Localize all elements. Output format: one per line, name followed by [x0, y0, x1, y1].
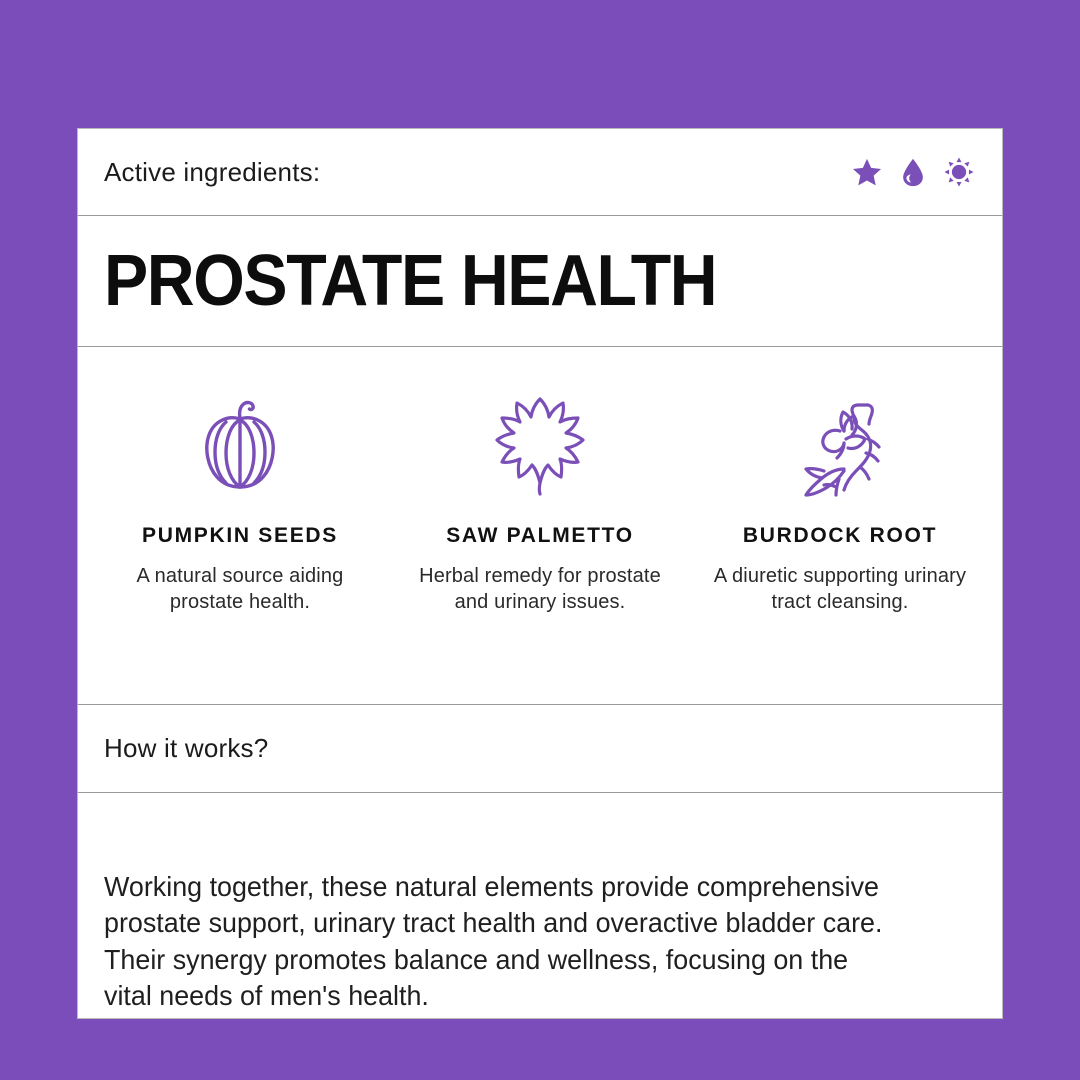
ingredient-card-pumpkin-seeds: PUMPKIN SEEDS A natural source aiding pr… — [90, 387, 390, 615]
poster-canvas: Active ingredients: — [0, 0, 1080, 1080]
water-drop-icon — [898, 157, 928, 187]
ingredient-description: A natural source aiding prostate health. — [115, 563, 365, 615]
title-section: PROSTATE HEALTH — [78, 216, 1002, 346]
ingredient-name: PUMPKIN SEEDS — [142, 523, 338, 550]
active-ingredients-label: Active ingredients: — [104, 157, 320, 188]
ingredient-name: BURDOCK ROOT — [743, 523, 937, 550]
page-title: PROSTATE HEALTH — [104, 245, 716, 317]
star-icon — [852, 157, 882, 187]
body-section: Working together, these natural elements… — [78, 793, 1002, 1043]
saw-palmetto-leaf-icon — [484, 387, 596, 507]
card-header: Active ingredients: — [78, 129, 1002, 215]
ingredient-name: SAW PALMETTO — [446, 523, 634, 550]
how-it-works-section: How it works? — [78, 705, 1002, 792]
sun-icon — [944, 157, 974, 187]
burdock-root-icon — [784, 387, 896, 507]
ingredient-description: Herbal remedy for prostate and urinary i… — [408, 563, 673, 615]
header-icon-group — [852, 157, 974, 187]
ingredient-description: A diuretic supporting urinary tract clea… — [708, 563, 973, 615]
ingredient-card-saw-palmetto: SAW PALMETTO Herbal remedy for prostate … — [390, 387, 690, 615]
pumpkin-icon — [184, 387, 296, 507]
ingredient-card-burdock-root: BURDOCK ROOT A diuretic supporting urina… — [690, 387, 990, 615]
how-it-works-body: Working together, these natural elements… — [104, 869, 901, 1015]
how-it-works-heading: How it works? — [104, 733, 268, 764]
info-card: Active ingredients: — [77, 128, 1003, 1019]
ingredients-section: PUMPKIN SEEDS A natural source aiding pr… — [78, 347, 1002, 704]
